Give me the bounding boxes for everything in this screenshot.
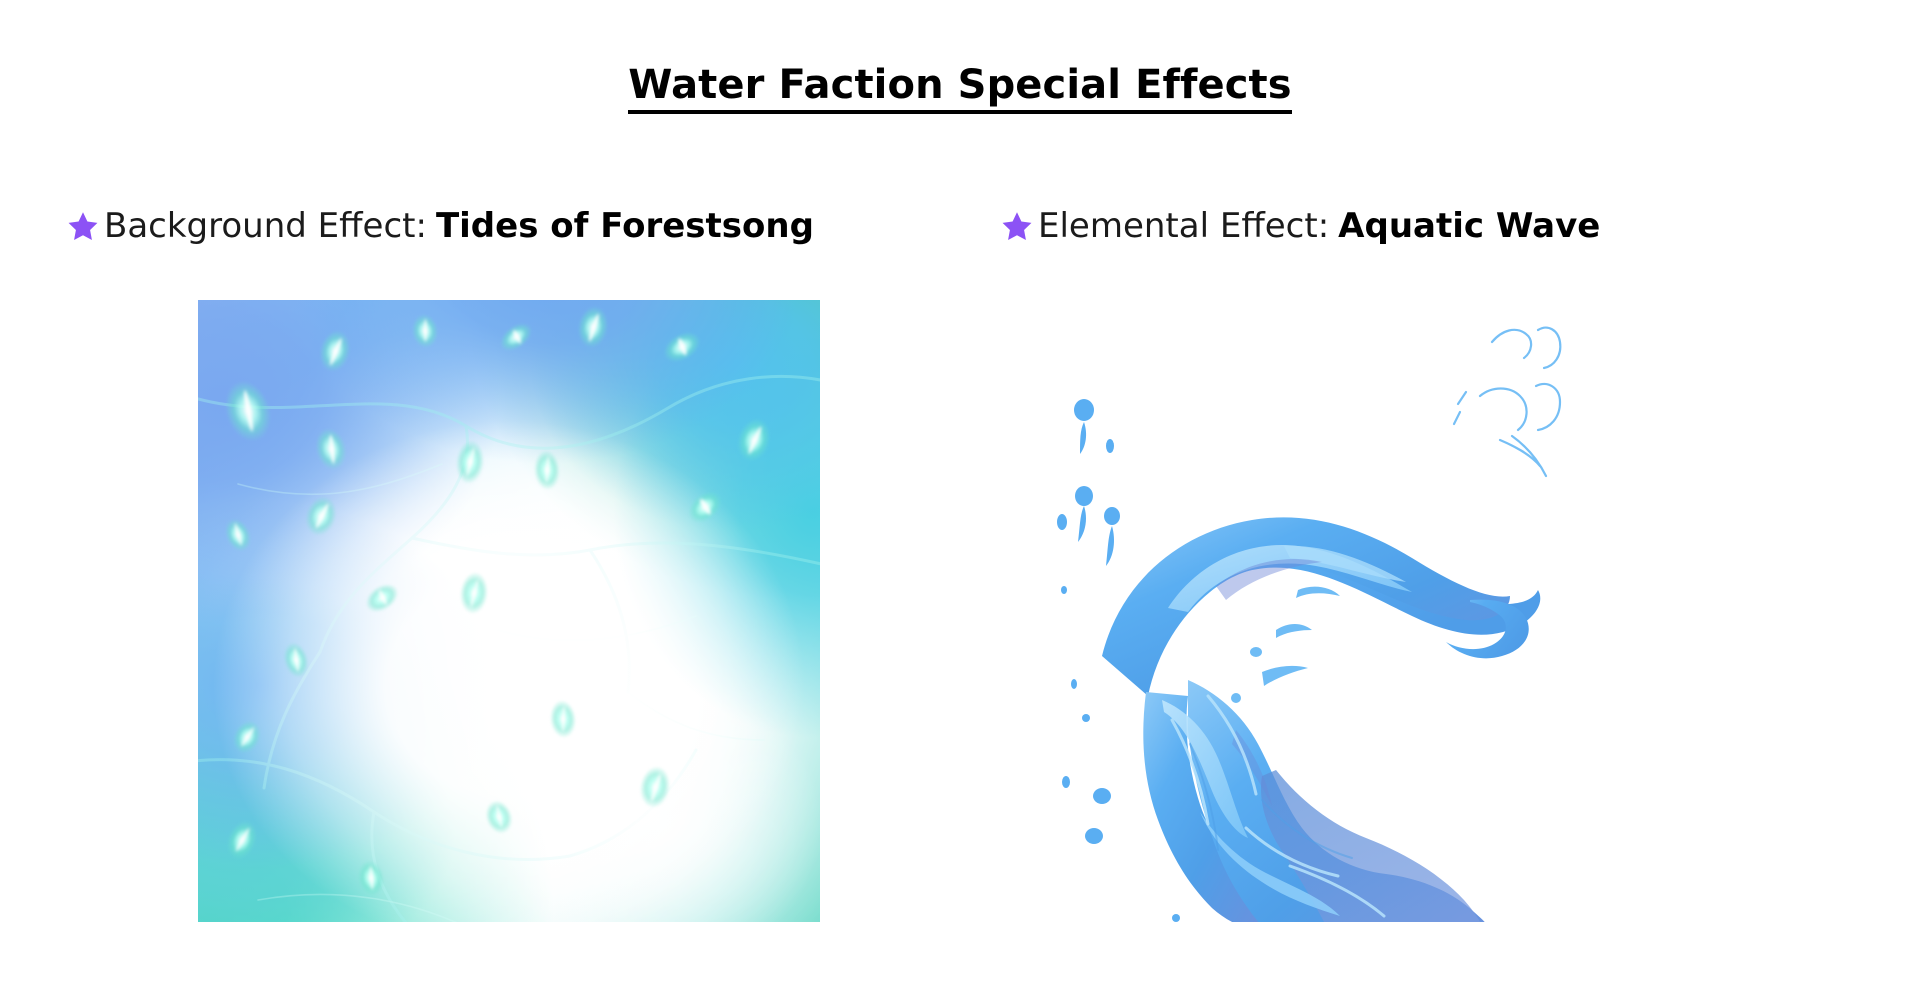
petal <box>301 492 342 539</box>
petal <box>575 304 612 351</box>
petal <box>217 375 278 448</box>
petal <box>311 425 350 473</box>
background-effect-caption: Background Effect: Tides of Forestsong <box>66 205 814 248</box>
petal <box>410 312 440 349</box>
petal <box>495 318 537 357</box>
petal <box>228 716 266 758</box>
elemental-effect-value: Aquatic Wave <box>1338 205 1600 248</box>
background-effect-value: Tides of Forestsong <box>436 205 814 248</box>
petal <box>220 515 256 556</box>
petal <box>533 449 562 491</box>
petal <box>222 816 263 864</box>
petal <box>458 571 490 616</box>
petal <box>481 797 517 838</box>
background-effect-label: Background Effect: <box>104 205 427 248</box>
elemental-effect-caption: Elemental Effect: Aquatic Wave <box>1000 205 1600 248</box>
page-title: Water Faction Special Effects <box>0 62 1920 114</box>
page-title-text: Water Faction Special Effects <box>628 63 1291 114</box>
background-effect-image <box>198 300 820 922</box>
star-icon <box>66 210 100 244</box>
petal <box>315 327 354 375</box>
elemental-effect-label: Elemental Effect: <box>1038 205 1329 248</box>
petal-cluster <box>198 300 820 922</box>
star-icon <box>1000 210 1034 244</box>
petal <box>682 485 728 529</box>
petal <box>658 326 706 369</box>
petal <box>733 414 776 465</box>
petal <box>548 699 578 740</box>
petal <box>355 858 388 899</box>
petal <box>454 439 486 486</box>
petal <box>360 578 403 618</box>
petal <box>280 639 313 680</box>
page-root: Water Faction Special Effects Background… <box>0 0 1920 1000</box>
petal <box>637 764 674 811</box>
elemental-effect-image <box>1040 300 1600 922</box>
